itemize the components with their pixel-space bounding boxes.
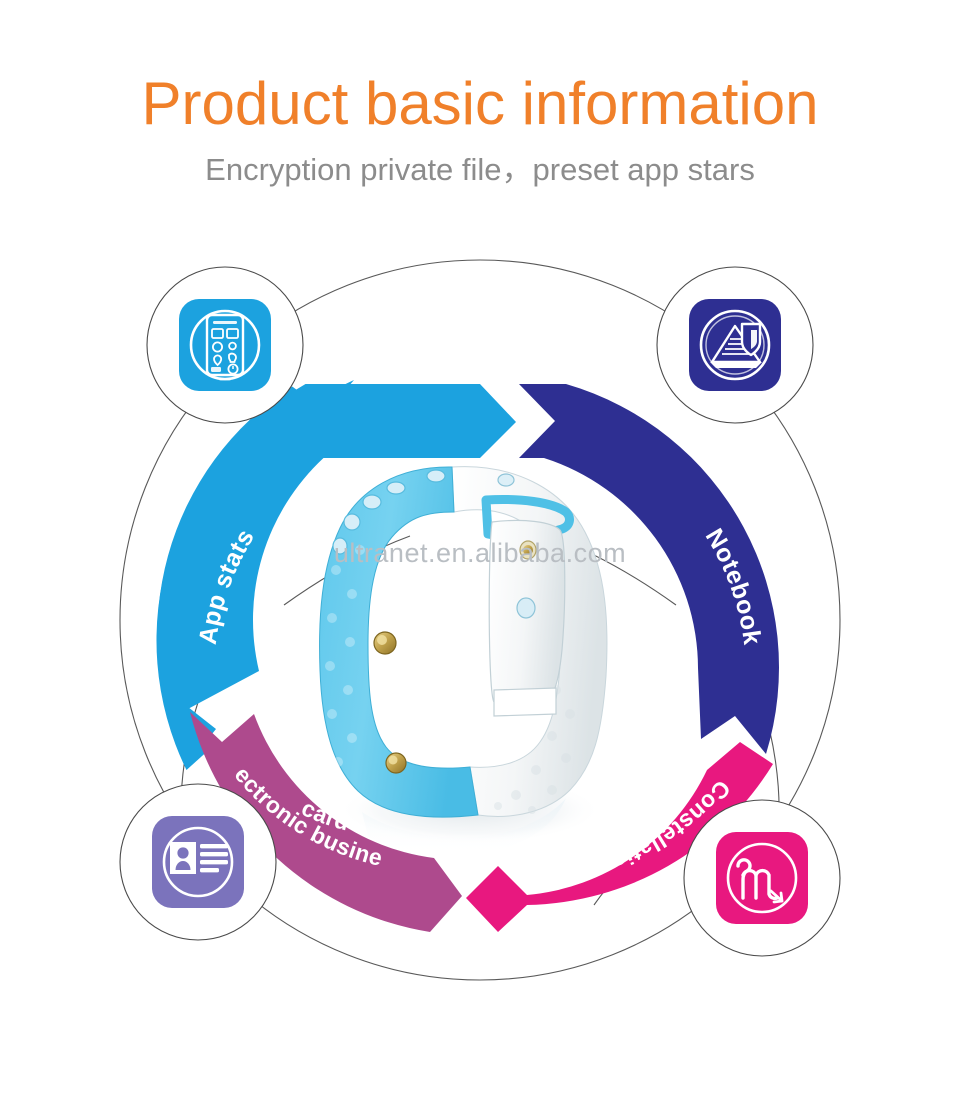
page-title: Product basic information	[0, 0, 960, 136]
ebc-icon-tile	[152, 816, 244, 908]
buckle-hole	[517, 598, 535, 618]
cycle-diagram: App stats Notebook 12 Constellation luck…	[0, 250, 960, 1010]
product-image-wristband	[320, 467, 607, 858]
buckle-pin	[523, 545, 533, 555]
node-notebook[interactable]	[657, 267, 813, 423]
node-electronic-business-card[interactable]	[120, 784, 276, 940]
node-app-stats[interactable]	[147, 267, 303, 423]
notebook-icon-tile	[689, 299, 781, 391]
buckle-tab	[494, 688, 556, 716]
white-strap-hole	[498, 474, 514, 486]
page-subtitle: Encryption private file，preset app stars	[0, 136, 960, 188]
node-constellation-luck[interactable]	[684, 800, 840, 956]
header: Product basic information Encryption pri…	[0, 0, 960, 188]
constellation-icon-tile	[716, 832, 808, 924]
